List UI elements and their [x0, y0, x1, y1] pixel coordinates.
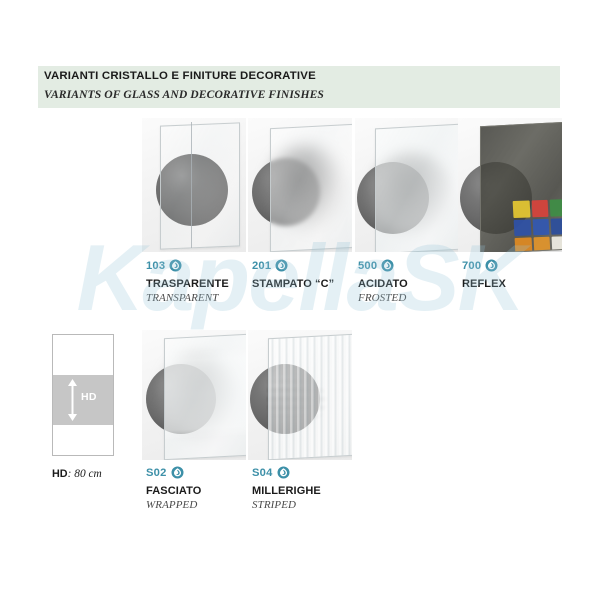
color-checker-reflection: [513, 199, 562, 252]
color-swatch-7: [533, 237, 551, 252]
glass-pane-striped: [268, 334, 352, 460]
sample-photo-acidato[interactable]: [355, 118, 459, 252]
sample-photo-fasciato[interactable]: [142, 330, 246, 460]
frosted-band: [165, 349, 246, 439]
code-row: 103: [146, 258, 229, 273]
sample-photo-stampato-c[interactable]: [248, 118, 352, 252]
sample-name-en: FROSTED: [358, 292, 408, 304]
color-swatch-5: [551, 218, 562, 235]
sample-code: S04: [252, 467, 273, 479]
photo-frame: [142, 118, 246, 252]
sample-code: S02: [146, 467, 167, 479]
sample-code: 103: [146, 260, 165, 272]
flute-stripes: [269, 335, 352, 459]
glass-pane-clear: [160, 122, 240, 249]
sample-code: 700: [462, 260, 481, 272]
color-swatch-0: [513, 200, 531, 217]
sample-name-it: STAMPATO “C”: [252, 278, 334, 290]
sample-code: 500: [358, 260, 377, 272]
sample-name-en: TRANSPARENT: [146, 292, 229, 304]
color-swatch-4: [532, 218, 550, 235]
glass-pane-mirrored: [480, 122, 562, 252]
sample-photo-reflex[interactable]: [458, 118, 562, 252]
sample-name-it: TRASPARENTE: [146, 278, 229, 290]
hd-caption-value: : 80 cm: [68, 468, 102, 480]
code-row: 700: [462, 258, 506, 273]
glass-drop-icon: [277, 466, 290, 479]
color-swatch-3: [514, 219, 532, 236]
color-swatch-2: [550, 199, 562, 216]
hd-band-label: HD: [81, 391, 97, 403]
double-arrow-icon: [67, 379, 78, 421]
glass-edge-line: [191, 122, 192, 248]
sample-name-it: ACIDATO: [358, 278, 408, 290]
glass-drop-icon: [381, 259, 394, 272]
sample-name-it: FASCIATO: [146, 485, 201, 497]
sample-label-stampato-c: 201 STAMPATO “C”: [252, 258, 334, 292]
glass-drop-icon: [275, 259, 288, 272]
code-row: S04: [252, 465, 321, 480]
color-swatch-1: [531, 200, 549, 217]
color-swatch-6: [515, 238, 533, 252]
sample-name-en: WRAPPED: [146, 499, 201, 511]
glass-drop-icon: [171, 466, 184, 479]
sample-label-transparent: 103 TRASPARENTE TRANSPARENT: [146, 258, 229, 304]
hd-caption: HD: 80 cm: [52, 468, 102, 480]
sample-name-it: REFLEX: [462, 278, 506, 290]
sample-label-fasciato: S02 FASCIATO WRAPPED: [146, 465, 201, 511]
glass-pane-frosted: [375, 124, 459, 252]
sample-name-it: MILLERIGHE: [252, 485, 321, 497]
sample-name-en: STRIPED: [252, 499, 321, 511]
glass-drop-icon: [485, 259, 498, 272]
code-row: 500: [358, 258, 408, 273]
photo-frame: [142, 330, 246, 460]
glass-pane-textured: [270, 124, 352, 252]
color-swatch-8: [552, 236, 562, 252]
code-row: 201: [252, 258, 334, 273]
photo-frame: [248, 118, 352, 252]
hd-band: HD: [53, 375, 113, 425]
page-subtitle: VARIANTS OF GLASS AND DECORATIVE FINISHE…: [44, 88, 324, 101]
glass-drop-icon: [169, 259, 182, 272]
hd-caption-label: HD: [52, 468, 68, 480]
glass-pane-wrapped: [164, 334, 246, 460]
sample-photo-transparent[interactable]: [142, 118, 246, 252]
photo-frame: [458, 118, 562, 252]
sample-label-reflex: 700 REFLEX: [462, 258, 506, 292]
sample-code: 201: [252, 260, 271, 272]
sample-photo-millerighe[interactable]: [248, 330, 352, 460]
photo-frame: [355, 118, 459, 252]
code-row: S02: [146, 465, 201, 480]
sample-label-millerighe: S04 MILLERIGHE STRIPED: [252, 465, 321, 511]
photo-frame: [248, 330, 352, 460]
page-title: VARIANTI CRISTALLO E FINITURE DECORATIVE: [44, 70, 316, 82]
sample-label-acidato: 500 ACIDATO FROSTED: [358, 258, 408, 304]
hd-height-diagram: HD: [52, 334, 114, 456]
